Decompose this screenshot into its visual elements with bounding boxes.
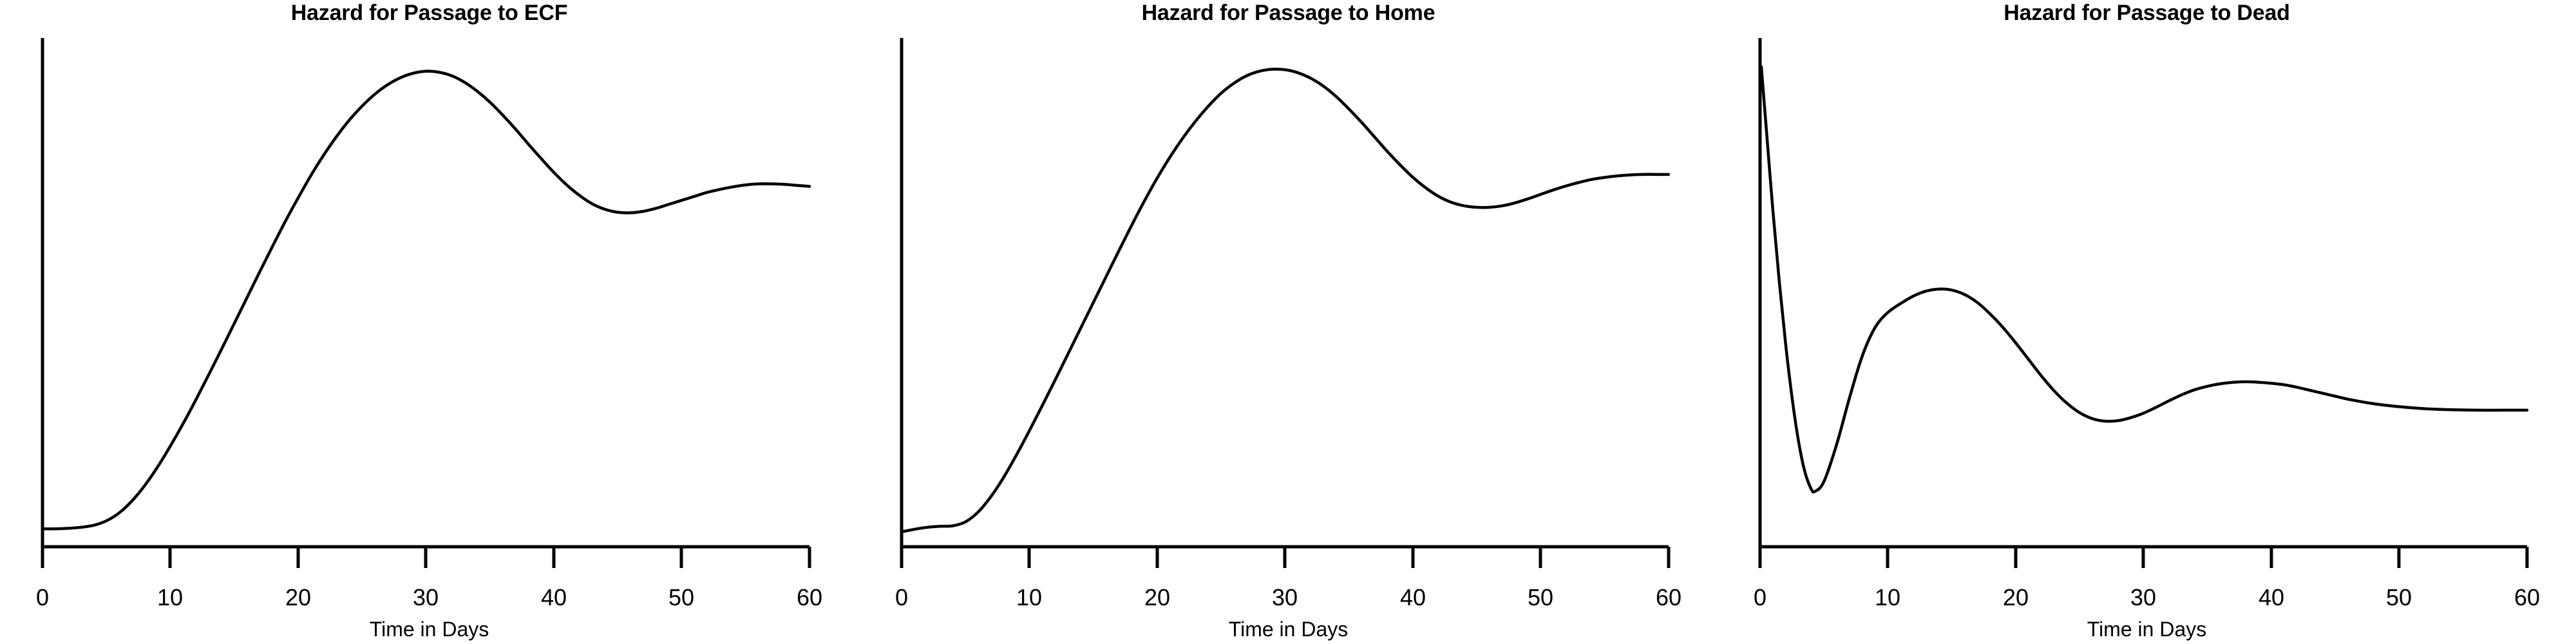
x-tick-label: 60 xyxy=(2514,584,2540,611)
x-tick-label: 10 xyxy=(157,584,183,611)
x-axis-ticks xyxy=(43,547,810,568)
x-tick-label: 20 xyxy=(1144,584,1170,611)
plot-axes-home: 0 10 20 30 40 50 60 xyxy=(895,38,1681,611)
hazard-curve-home xyxy=(902,69,1669,531)
x-tick-label: 10 xyxy=(1875,584,1900,611)
x-tick-label: 30 xyxy=(2130,584,2156,611)
x-axis-ticks xyxy=(1760,547,2527,568)
x-tick-label: 0 xyxy=(895,584,908,611)
chart-panel-ecf: Hazard for Passage to ECF 0 10 20 xyxy=(0,0,858,644)
x-tick-label: 40 xyxy=(541,584,567,611)
x-tick-label: 30 xyxy=(413,584,439,611)
chart-panel-dead: Hazard for Passage to Dead 0 10 20 xyxy=(1718,0,2576,644)
x-tick-label: 50 xyxy=(668,584,694,611)
x-tick-label: 40 xyxy=(1400,584,1426,611)
x-tick-label: 0 xyxy=(1754,584,1766,611)
x-tick-label: 60 xyxy=(1656,584,1681,611)
figure-canvas: Hazard for Passage to ECF 0 10 20 xyxy=(0,0,2576,644)
x-tick-label: 50 xyxy=(1528,584,1553,611)
x-axis-label-dead: Time in Days xyxy=(1718,618,2576,641)
hazard-curve-ecf xyxy=(43,71,810,529)
x-tick-label: 30 xyxy=(1272,584,1298,611)
x-tick-label: 40 xyxy=(2259,584,2284,611)
x-axis-label-home: Time in Days xyxy=(859,618,1718,641)
plot-axes-ecf: 0 10 20 30 40 50 60 xyxy=(36,38,822,611)
hazard-plot-home: 0 10 20 30 40 50 60 xyxy=(859,0,1718,644)
chart-panel-home: Hazard for Passage to Home 0 10 20 xyxy=(859,0,1718,644)
x-tick-label: 50 xyxy=(2386,584,2412,611)
x-tick-label: 20 xyxy=(285,584,311,611)
hazard-plot-dead: 0 10 20 30 40 50 60 xyxy=(1718,0,2576,644)
x-tick-label: 0 xyxy=(36,584,49,611)
x-tick-label: 10 xyxy=(1016,584,1042,611)
x-tick-label: 60 xyxy=(797,584,822,611)
x-axis-tick-labels: 0 10 20 30 40 50 60 xyxy=(36,584,822,611)
x-tick-label: 20 xyxy=(2003,584,2029,611)
x-axis-tick-labels: 0 10 20 30 40 50 60 xyxy=(895,584,1681,611)
x-axis-tick-labels: 0 10 20 30 40 50 60 xyxy=(1754,584,2540,611)
plot-axes-dead: 0 10 20 30 40 50 60 xyxy=(1754,38,2540,611)
hazard-plot-ecf: 0 10 20 30 40 50 60 xyxy=(0,0,858,644)
x-axis-ticks xyxy=(902,547,1669,568)
x-axis-label-ecf: Time in Days xyxy=(0,618,858,641)
hazard-curve-dead xyxy=(1761,67,2527,492)
